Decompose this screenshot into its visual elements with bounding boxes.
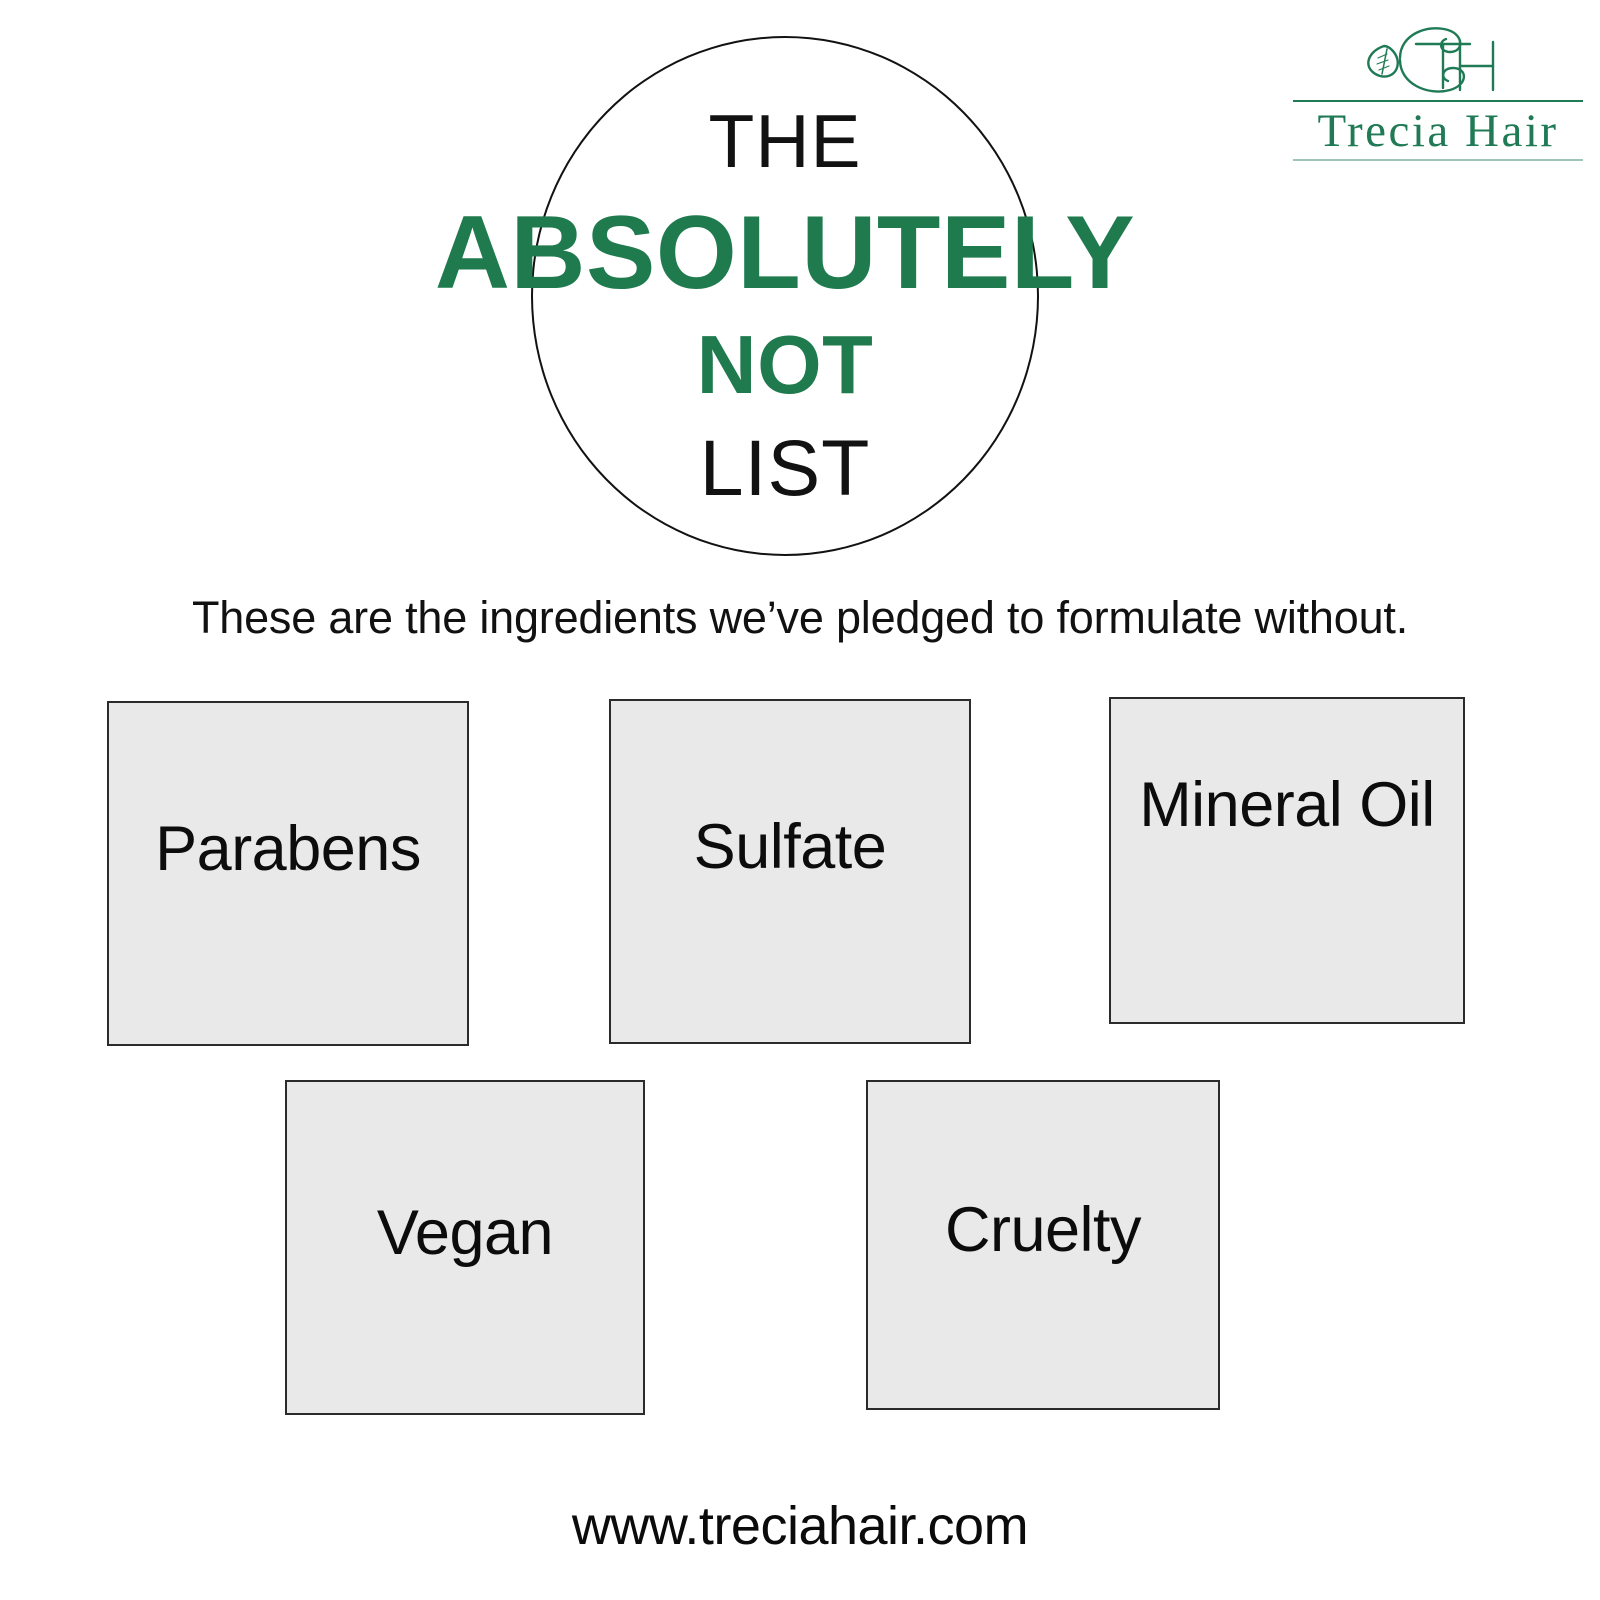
absolutely-not-list-badge: THE ABSOLUTELY NOT LIST: [531, 36, 1039, 556]
ingredient-box-parabens: Parabens: [107, 701, 469, 1046]
brand-wordmark: Trecia Hair: [1293, 100, 1583, 161]
footer-website-url: www.treciahair.com: [0, 1495, 1600, 1557]
brand-logo: Trecia Hair: [1288, 18, 1588, 170]
ingredient-label: Parabens: [109, 813, 467, 1044]
ingredient-label: Sulfate: [611, 811, 969, 1042]
badge-line-list: LIST: [351, 428, 1219, 507]
badge-line-not: NOT: [351, 323, 1219, 406]
badge-text-stack: THE ABSOLUTELY NOT LIST: [351, 36, 1219, 556]
ingredient-box-mineral-oil: Mineral Oil: [1109, 697, 1465, 1024]
th-monogram-leaf-icon: [1288, 18, 1588, 100]
ingredient-label: Vegan: [287, 1197, 643, 1413]
ingredient-box-cruelty: Cruelty: [866, 1080, 1220, 1410]
subtitle-text: These are the ingredients we’ve pledged …: [0, 592, 1600, 644]
ingredient-box-vegan: Vegan: [285, 1080, 645, 1415]
badge-line-the: THE: [351, 104, 1219, 179]
ingredient-label: Cruelty: [868, 1194, 1218, 1408]
badge-line-absolutely: ABSOLUTELY: [351, 201, 1219, 305]
ingredient-box-sulfate: Sulfate: [609, 699, 971, 1044]
ingredient-label: Mineral Oil: [1111, 769, 1463, 1022]
